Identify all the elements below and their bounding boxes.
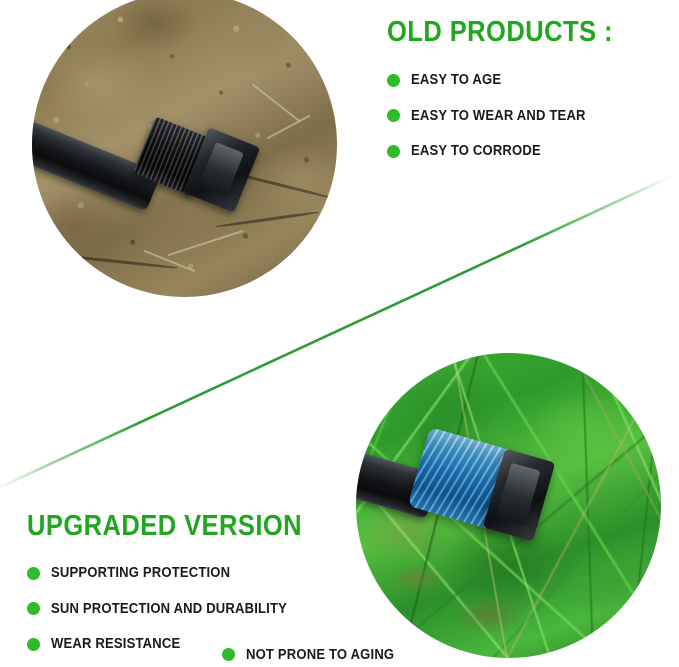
old-products-bullet-label: EASY TO AGE [411, 73, 501, 88]
upgraded-version-bullet: SUN PROTECTION AND DURABILITY [27, 602, 411, 617]
old-products-heading: OLD PRODUCTS : [387, 18, 613, 47]
upgraded-version-bullet-label: WEAR RESISTANCE [51, 637, 180, 652]
bullet-dot-icon [27, 638, 40, 651]
old-products-bullet-label: EASY TO WEAR AND TEAR [411, 109, 586, 124]
old-products-block: OLD PRODUCTS : EASY TO AGE EASY TO WEAR … [387, 18, 644, 159]
upgraded-version-bullet-label: SUPPORTING PROTECTION [51, 566, 230, 581]
bullet-dot-icon [27, 567, 40, 580]
old-products-bullet: EASY TO CORRODE [387, 144, 644, 159]
upgraded-version-bullet-label: SUN PROTECTION AND DURABILITY [51, 602, 287, 617]
infographic-canvas: OLD PRODUCTS : EASY TO AGE EASY TO WEAR … [0, 0, 679, 667]
upgraded-version-heading: UPGRADED VERSION [27, 512, 365, 541]
old-products-bullet: EASY TO AGE [387, 73, 644, 88]
bullet-dot-icon [387, 74, 400, 87]
upgraded-version-bullet-label: NOT PRONE TO AGING [246, 648, 394, 663]
upgraded-version-bullet: WEAR RESISTANCE [27, 637, 222, 652]
bullet-dot-icon [27, 602, 40, 615]
upgraded-version-bullet: SUPPORTING PROTECTION [27, 566, 411, 581]
bullet-dot-icon [387, 145, 400, 158]
old-products-bullet-label: EASY TO CORRODE [411, 144, 541, 159]
upgraded-version-bullet-row-split: WEAR RESISTANCE NOT PRONE TO AGING [27, 637, 411, 667]
upgraded-version-bullet: NOT PRONE TO AGING [222, 648, 411, 663]
upgraded-version-block: UPGRADED VERSION SUPPORTING PROTECTION S… [27, 512, 411, 667]
old-product-photo [32, 0, 337, 297]
old-products-bullet: EASY TO WEAR AND TEAR [387, 109, 644, 124]
bullet-dot-icon [222, 648, 235, 661]
bullet-dot-icon [387, 109, 400, 122]
